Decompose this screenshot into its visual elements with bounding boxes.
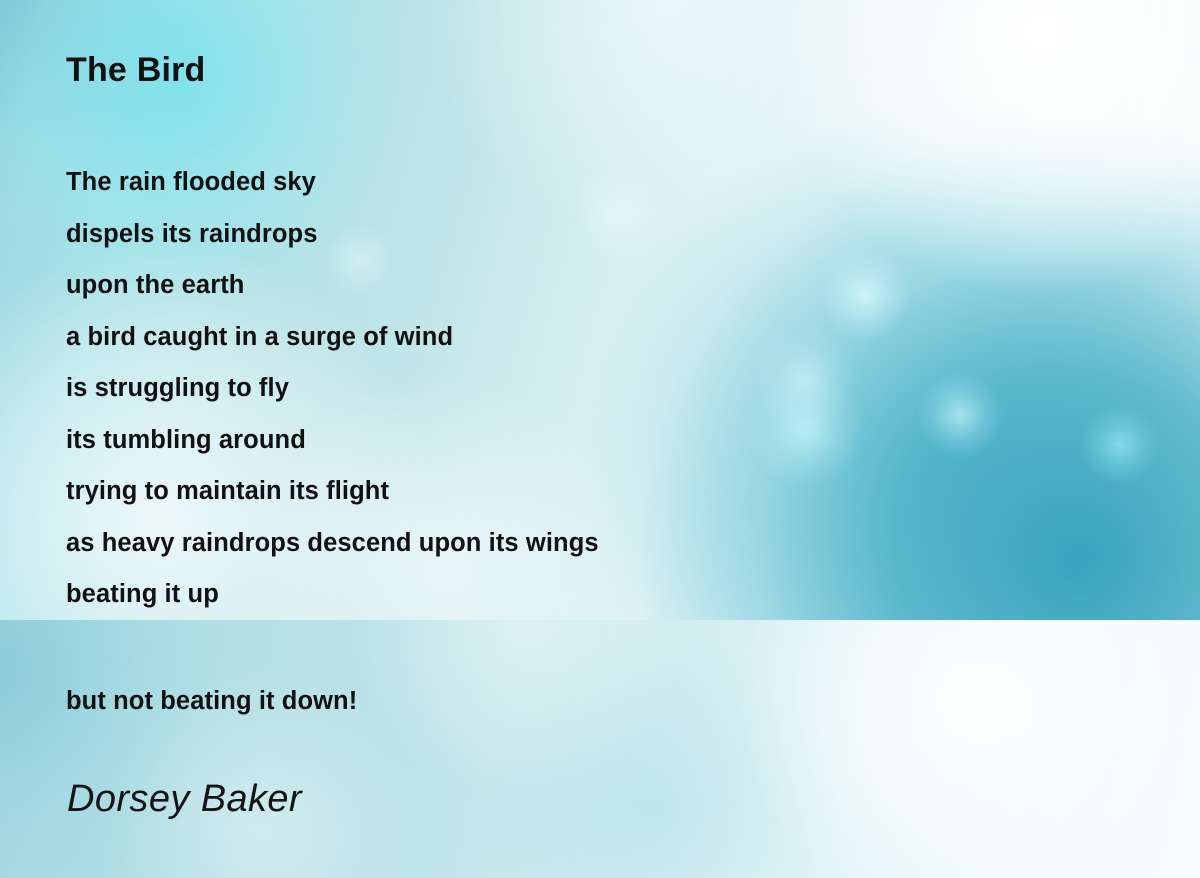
poem-line: a bird caught in a surge of wind — [66, 312, 1066, 364]
poem-line: beating it up — [66, 569, 1066, 621]
poem-line: is struggling to fly — [66, 363, 1066, 415]
poem-line: its tumbling around — [66, 415, 1066, 467]
poem-line: trying to maintain its flight — [66, 466, 1066, 518]
poem-line: upon the earth — [66, 260, 1066, 312]
poem-stanza-second: but not beating it down! — [66, 676, 357, 728]
poem-image-card: The Bird The rain flooded sky dispels it… — [0, 0, 1200, 878]
poem-title: The Bird — [66, 51, 206, 90]
poem-line: The rain flooded sky — [66, 157, 1066, 209]
poem-line: dispels its raindrops — [66, 209, 1066, 261]
poem-author-signature: Dorsey Baker — [67, 778, 302, 821]
poem-stanza-first: The rain flooded sky dispels its raindro… — [66, 157, 1066, 621]
poem-line: as heavy raindrops descend upon its wing… — [66, 518, 1066, 570]
poem-line: but not beating it down! — [66, 676, 357, 728]
poem-content: The Bird The rain flooded sky dispels it… — [0, 0, 1200, 878]
